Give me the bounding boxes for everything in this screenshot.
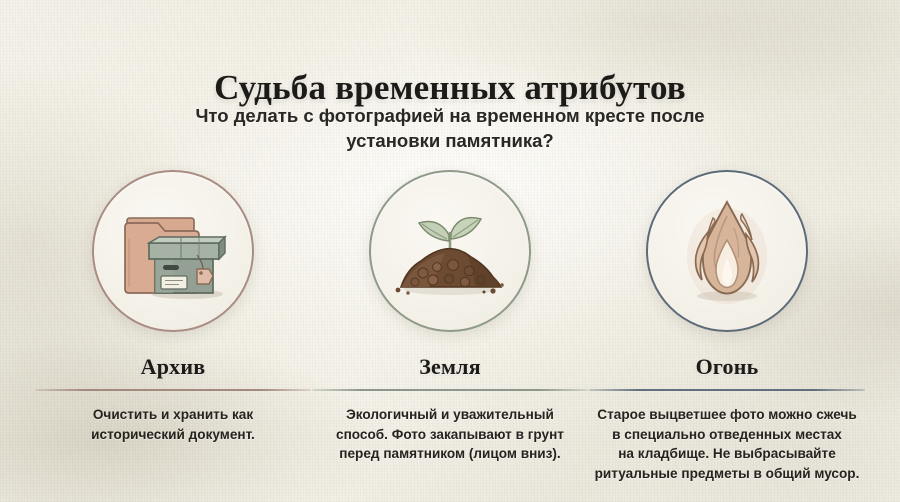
option-body-archive: Очистить и хранить как исторический доку… <box>28 405 318 444</box>
body-line: в специально отведенных местах <box>582 425 872 445</box>
option-body-earth: Экологичный и уважительный способ. Фото … <box>305 405 595 464</box>
option-title-earth: Земля <box>419 354 481 380</box>
body-line: Очистить и хранить как <box>28 405 318 425</box>
body-line: на кладбище. Не выбрасывайте <box>582 444 872 464</box>
body-line: исторический документ. <box>28 425 318 445</box>
soil-mound-sprout-icon <box>369 170 531 332</box>
page-subtitle: Что делать с фотографией на временном кр… <box>170 104 730 154</box>
body-line: Старое выцветшее фото можно сжечь <box>582 405 872 425</box>
body-line: перед памятником (лицом вниз). <box>305 444 595 464</box>
option-card-earth: Земля Экологичный и уважительный способ.… <box>323 170 577 464</box>
body-line: ритуальные предметы в общий мусор. <box>582 464 872 484</box>
option-card-fire: Огонь Старое выцветшее фото можно сжечь … <box>600 170 854 484</box>
option-title-fire: Огонь <box>696 354 759 380</box>
body-line: способ. Фото закапывают в грунт <box>305 425 595 445</box>
divider-earth <box>312 389 588 391</box>
option-body-fire: Старое выцветшее фото можно сжечь в спец… <box>582 405 872 484</box>
page-title: Судьба временных атрибутов <box>0 69 900 108</box>
body-line: Экологичный и уважительный <box>305 405 595 425</box>
slide-canvas: Судьба временных атрибутов Что делать с … <box>0 0 900 502</box>
option-title-archive: Архив <box>141 354 206 380</box>
archive-box-folder-icon <box>92 170 254 332</box>
options-row: Архив Очистить и хранить как исторически… <box>0 170 900 484</box>
divider-fire <box>589 389 865 391</box>
flame-icon <box>646 170 808 332</box>
subtitle-line-1: Что делать с фотографией на временном кр… <box>195 105 645 126</box>
divider-archive <box>35 389 311 391</box>
option-card-archive: Архив Очистить и хранить как исторически… <box>46 170 300 444</box>
